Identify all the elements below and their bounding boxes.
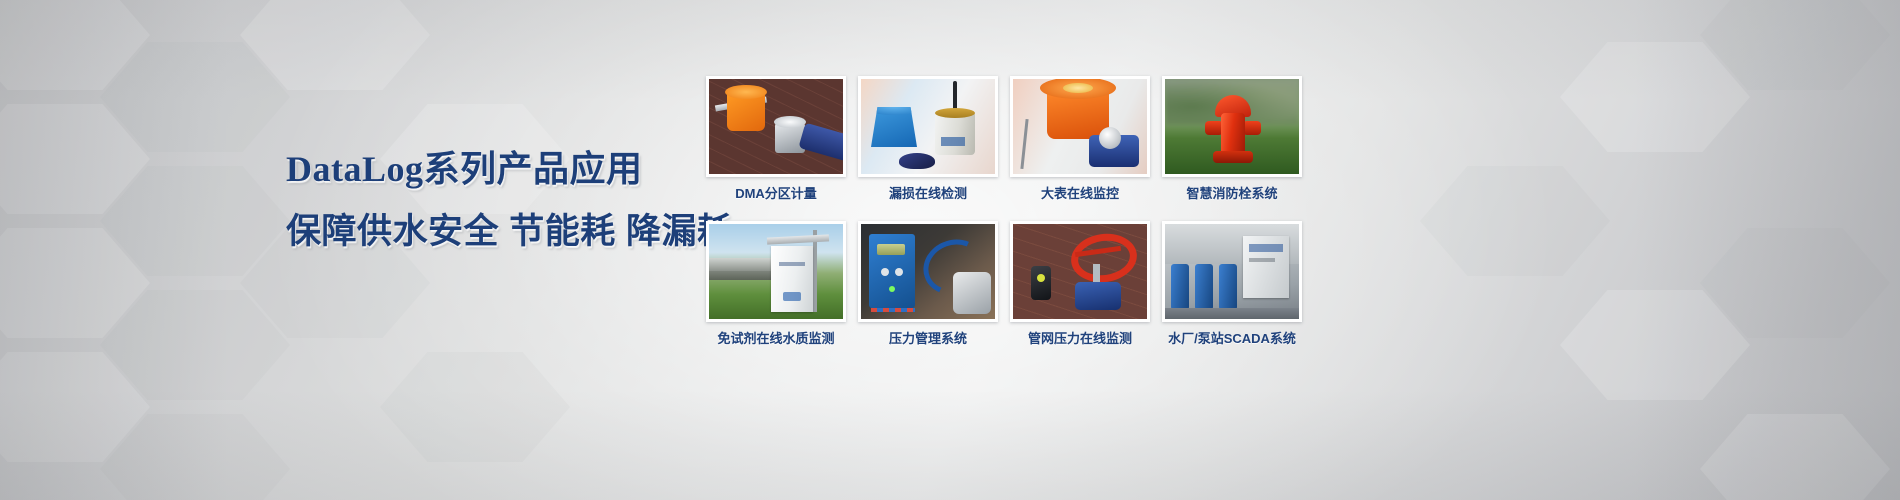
product-caption: 免试剂在线水质监测 [706, 331, 846, 347]
thumb-dma-metering [709, 79, 843, 174]
thumb-frame[interactable] [1010, 221, 1150, 322]
product-cell-dma-metering[interactable]: DMA分区计量 [706, 76, 846, 202]
thumbnail-row-1: DMA分区计量 漏损在线检测 [706, 76, 1302, 202]
product-cell-pressure-management-system[interactable]: 压力管理系统 [858, 221, 998, 347]
thumb-frame[interactable] [1010, 76, 1150, 177]
product-application-banner: DataLog系列产品应用 保障供水安全 节能耗 降漏耗 DMA分区计量 [0, 0, 1900, 500]
thumb-pressure-management-system [861, 224, 995, 319]
thumbnail-row-2: 免试剂在线水质监测 压力管理系统 [706, 221, 1302, 347]
headline-block: DataLog系列产品应用 保障供水安全 节能耗 降漏耗 [286, 146, 706, 254]
thumb-frame[interactable] [706, 76, 846, 177]
product-cell-reagent-free-water-quality[interactable]: 免试剂在线水质监测 [706, 221, 846, 347]
product-caption: 水厂/泵站SCADA系统 [1162, 331, 1302, 347]
product-cell-smart-hydrant-system[interactable]: 智慧消防栓系统 [1162, 76, 1302, 202]
thumb-waterworks-scada-system [1165, 224, 1299, 319]
thumb-leak-detection [861, 79, 995, 174]
product-cell-large-meter-monitoring[interactable]: 大表在线监控 [1010, 76, 1150, 202]
product-cell-leak-detection[interactable]: 漏损在线检测 [858, 76, 998, 202]
product-caption: 大表在线监控 [1010, 186, 1150, 202]
product-caption: 漏损在线检测 [858, 186, 998, 202]
thumb-network-pressure-monitoring [1013, 224, 1147, 319]
thumb-frame[interactable] [1162, 76, 1302, 177]
thumb-large-meter-monitoring [1013, 79, 1147, 174]
product-caption: 管网压力在线监测 [1010, 331, 1150, 347]
thumb-frame[interactable] [706, 221, 846, 322]
product-caption: DMA分区计量 [706, 186, 846, 202]
product-caption: 压力管理系统 [858, 331, 998, 347]
thumb-reagent-free-water-quality [709, 224, 843, 319]
thumb-frame[interactable] [1162, 221, 1302, 322]
product-cell-waterworks-scada-system[interactable]: 水厂/泵站SCADA系统 [1162, 221, 1302, 347]
thumb-frame[interactable] [858, 76, 998, 177]
product-caption: 智慧消防栓系统 [1162, 186, 1302, 202]
headline-line-1: DataLog系列产品应用 [286, 146, 706, 192]
product-cell-network-pressure-monitoring[interactable]: 管网压力在线监测 [1010, 221, 1150, 347]
headline-line-2: 保障供水安全 节能耗 降漏耗 [286, 210, 706, 254]
thumb-frame[interactable] [858, 221, 998, 322]
product-thumbnail-grid: DMA分区计量 漏损在线检测 [706, 76, 1302, 347]
thumb-smart-hydrant-system [1165, 79, 1299, 174]
